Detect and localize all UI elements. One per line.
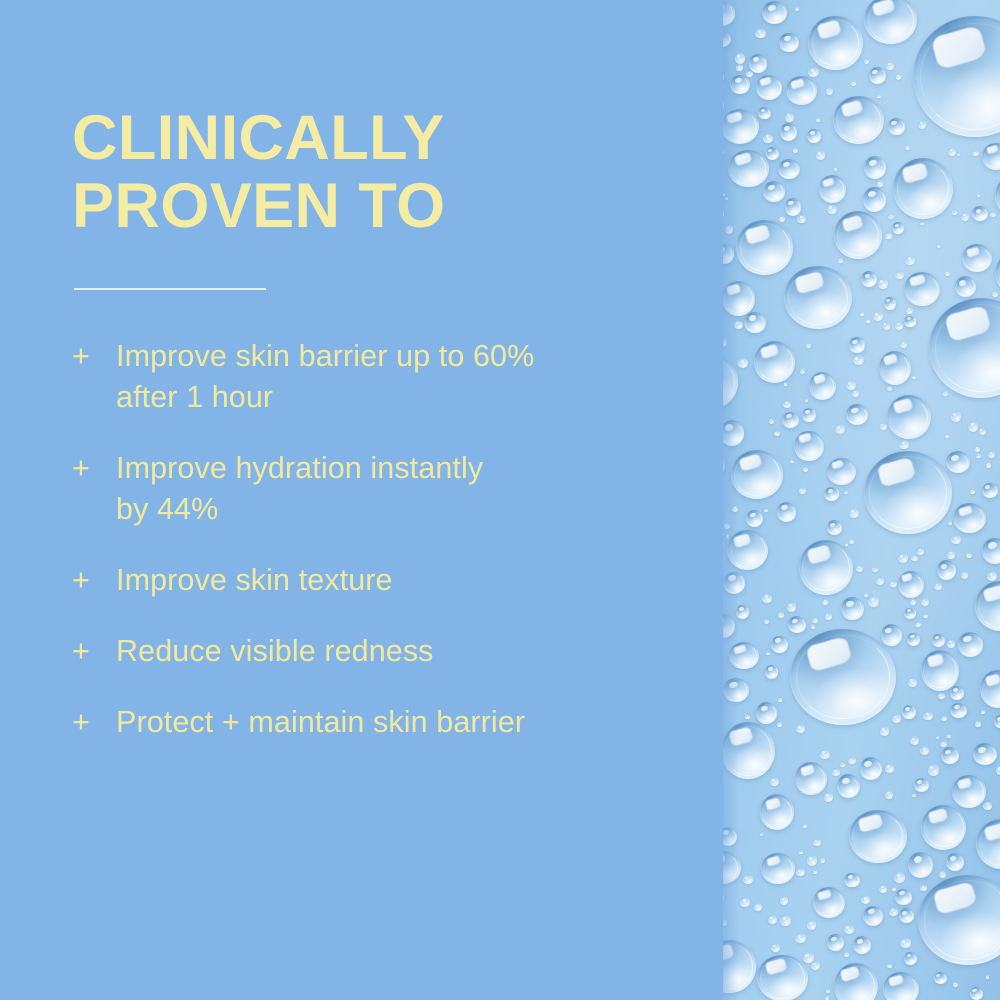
water-droplet xyxy=(825,996,829,1000)
water-droplet xyxy=(795,7,799,11)
water-droplet xyxy=(972,206,988,220)
water-droplet xyxy=(756,75,782,100)
water-droplet xyxy=(800,369,805,374)
water-droplet xyxy=(921,650,959,690)
water-droplet xyxy=(723,150,724,154)
water-droplet xyxy=(807,855,818,865)
water-droplet xyxy=(754,341,795,382)
water-droplet xyxy=(940,741,947,747)
water-droplet xyxy=(983,802,992,810)
water-droplet xyxy=(848,757,855,764)
water-droplet xyxy=(937,244,941,248)
water-droplet xyxy=(826,989,830,993)
water-droplet xyxy=(951,411,961,422)
water-droplet xyxy=(793,148,798,153)
list-item: + Improve skin texture xyxy=(72,560,692,601)
water-droplet xyxy=(765,665,779,678)
water-droplet xyxy=(890,581,897,587)
water-droplet xyxy=(982,143,1000,170)
water-droplet xyxy=(941,716,946,721)
water-droplet xyxy=(799,487,806,494)
water-droplet xyxy=(866,319,871,324)
water-droplet xyxy=(856,565,863,572)
water-droplet xyxy=(844,873,859,888)
water-droplet xyxy=(778,159,800,179)
water-droplet xyxy=(907,633,920,646)
water-droplet xyxy=(952,775,986,808)
plus-icon: + xyxy=(72,448,96,489)
water-droplet xyxy=(876,577,885,585)
water-droplet xyxy=(732,506,738,512)
water-droplet xyxy=(878,278,889,288)
water-droplet xyxy=(910,599,916,605)
water-droplet xyxy=(723,572,745,594)
text-panel: CLINICALLY PROVEN TO + Improve skin barr… xyxy=(0,0,723,1000)
water-droplet xyxy=(844,491,847,494)
water-droplet xyxy=(808,67,819,77)
water-droplet xyxy=(760,833,763,837)
water-droplet xyxy=(986,462,991,468)
water-droplet xyxy=(899,440,908,449)
water-droplet xyxy=(736,605,749,619)
water-droplet xyxy=(807,129,821,143)
water-droplet xyxy=(757,955,807,1000)
water-droplet xyxy=(758,107,771,119)
water-droplet xyxy=(990,212,996,218)
water-droplet xyxy=(806,343,811,348)
water-droplet xyxy=(786,76,817,105)
water-droplet xyxy=(784,266,852,329)
water-droplet xyxy=(904,608,916,619)
water-droplet xyxy=(905,256,915,266)
water-droplet xyxy=(905,145,910,150)
water-droplet xyxy=(723,100,724,109)
water-droplet xyxy=(920,222,923,225)
water-droplet xyxy=(790,629,896,725)
water-droplet xyxy=(898,571,924,598)
water-droplet xyxy=(813,839,821,846)
water-droplet xyxy=(754,903,762,910)
water-droplet xyxy=(868,596,879,608)
water-droplet xyxy=(780,896,788,904)
water-droplet xyxy=(970,987,983,999)
list-item: + Improve skin barrier up to 60% after 1… xyxy=(72,336,692,418)
water-droplet xyxy=(950,703,967,719)
water-droplet xyxy=(826,87,833,95)
list-item-label: Improve skin barrier up to 60% after 1 h… xyxy=(116,336,692,418)
water-droplet xyxy=(982,538,1000,563)
water-droplet xyxy=(883,322,891,330)
water-droplet xyxy=(809,372,836,400)
water-droplet xyxy=(768,915,777,924)
water-droplet xyxy=(995,176,1000,215)
water-droplet xyxy=(957,153,961,157)
water-droplet xyxy=(723,31,731,47)
water-droplet xyxy=(778,698,782,702)
water-droplet xyxy=(864,59,869,64)
benefit-list: + Improve skin barrier up to 60% after 1… xyxy=(72,336,692,743)
water-droplet xyxy=(915,622,921,628)
water-droplet xyxy=(849,539,854,544)
water-droplet xyxy=(941,747,959,764)
list-item-label: Improve hydration instantly by 44% xyxy=(116,448,692,530)
water-droplet xyxy=(816,118,820,122)
water-droplet xyxy=(785,198,802,215)
water-droplet xyxy=(973,743,997,765)
water-droplet xyxy=(904,272,940,307)
water-droplet xyxy=(749,54,767,72)
water-droplet xyxy=(834,963,878,1000)
water-droplet xyxy=(968,421,978,432)
water-droplet xyxy=(766,147,779,160)
water-droplet xyxy=(769,419,774,424)
water-droplet xyxy=(914,778,929,792)
water-droplet xyxy=(787,602,797,612)
water-droplet xyxy=(988,451,995,458)
water-droplet xyxy=(912,794,916,798)
water-droplet xyxy=(861,271,877,287)
water-droplet xyxy=(822,599,828,605)
water-droplet xyxy=(986,975,990,978)
water-droplet xyxy=(886,62,895,71)
water-droplet xyxy=(877,180,884,187)
water-droplet xyxy=(777,502,796,522)
page-title-line-2: PROVEN TO xyxy=(72,172,672,240)
water-droplet xyxy=(981,710,985,714)
water-droplet xyxy=(906,307,913,313)
water-droplet xyxy=(846,380,856,390)
water-droplet xyxy=(976,819,1000,869)
water-droplet xyxy=(945,434,949,438)
water-droplet xyxy=(834,167,837,170)
water-droplet xyxy=(827,934,843,951)
water-droplet xyxy=(883,972,919,1000)
water-droplet xyxy=(838,258,843,263)
water-droplet xyxy=(723,281,755,315)
water-droplet xyxy=(987,571,997,581)
water-droplet xyxy=(920,746,929,754)
water-droplet xyxy=(861,895,870,904)
water-droplet xyxy=(885,232,892,238)
list-item: + Reduce visible redness xyxy=(72,631,692,672)
water-droplet xyxy=(725,197,728,200)
water-droplet xyxy=(873,311,884,321)
water-droplet xyxy=(947,640,955,648)
water-droplet xyxy=(895,889,913,905)
water-droplet xyxy=(837,774,860,798)
water-droplet xyxy=(780,915,791,926)
water-droplet xyxy=(864,156,886,179)
water-droplet xyxy=(755,29,765,39)
water-droplet xyxy=(723,919,727,926)
water-droplet xyxy=(813,887,845,918)
water-droplet xyxy=(825,613,832,620)
water-droplet xyxy=(888,214,893,219)
water-droplet xyxy=(736,64,743,70)
water-droplet xyxy=(725,225,734,234)
water-droplet xyxy=(841,597,863,620)
water-droplet xyxy=(723,71,724,83)
water-droplet xyxy=(853,936,871,954)
water-droplet xyxy=(863,906,883,925)
water-droplet xyxy=(932,634,945,647)
list-item-label: Reduce visible redness xyxy=(116,631,692,672)
water-droplet xyxy=(820,858,825,863)
water-droplet xyxy=(811,624,816,629)
water-droplet xyxy=(953,982,958,987)
plus-icon: + xyxy=(72,560,96,601)
water-droplet xyxy=(928,764,939,775)
water-droplet xyxy=(728,150,769,187)
water-droplet xyxy=(917,548,924,555)
water-droplet xyxy=(920,885,927,891)
water-droplet xyxy=(962,244,992,272)
list-item: + Protect + maintain skin barrier xyxy=(72,702,692,743)
water-droplet xyxy=(872,567,878,572)
water-droplet xyxy=(864,451,952,534)
page-title: CLINICALLY PROVEN TO xyxy=(72,104,672,240)
water-droplet xyxy=(799,851,802,854)
water-droplet xyxy=(887,395,931,439)
water-droplet xyxy=(756,702,777,723)
water-droplet xyxy=(820,750,830,760)
water-droplet xyxy=(827,458,855,485)
water-droplet xyxy=(723,452,725,479)
water-droplet xyxy=(723,614,735,638)
water-droplet xyxy=(734,321,743,329)
water-droplet xyxy=(844,952,849,957)
water-droplet xyxy=(902,705,917,720)
water-droplet xyxy=(723,420,744,446)
water-droplet xyxy=(895,322,903,330)
water-droplet xyxy=(813,870,817,874)
water-droplet xyxy=(779,33,798,53)
water-droplet xyxy=(982,483,998,498)
water-droplet xyxy=(880,423,888,430)
water-droplet xyxy=(788,616,806,633)
water-droplet xyxy=(975,446,980,452)
water-droplet xyxy=(762,594,772,603)
water-droplet xyxy=(885,764,895,773)
water-droplet xyxy=(976,454,981,459)
water-droplet xyxy=(904,952,916,965)
water-droplet xyxy=(951,535,960,544)
divider xyxy=(74,288,266,290)
water-droplet xyxy=(824,792,833,802)
water-droplet xyxy=(913,16,1000,137)
water-droplet xyxy=(808,16,862,70)
water-droplet xyxy=(851,81,857,86)
water-droplet xyxy=(945,271,950,276)
water-droplet xyxy=(975,721,981,727)
water-droplet xyxy=(934,583,942,590)
water-droplet xyxy=(784,382,788,385)
water-droplet xyxy=(723,851,741,884)
water-droplet xyxy=(937,560,956,580)
water-droplet xyxy=(910,736,919,745)
water-droplet xyxy=(844,925,854,934)
water-droplet xyxy=(840,763,845,767)
water-droplet xyxy=(863,187,887,212)
water-droplet xyxy=(938,693,945,700)
water-droplet xyxy=(746,510,763,527)
water-droplet xyxy=(738,358,748,367)
water-droplet xyxy=(923,614,927,618)
water-droplet xyxy=(955,276,977,297)
page-title-line-1: CLINICALLY xyxy=(72,104,672,172)
water-droplet xyxy=(904,316,916,328)
water-droplet xyxy=(884,297,896,309)
water-droplet xyxy=(950,686,964,700)
water-droplet xyxy=(723,827,737,846)
water-droplet xyxy=(921,598,928,606)
water-droplet xyxy=(777,722,782,727)
water-droplet xyxy=(864,593,868,597)
water-droplet xyxy=(860,312,864,316)
water-droplet xyxy=(892,887,896,891)
water-droplet xyxy=(994,715,1000,729)
water-droplet xyxy=(744,312,765,333)
water-droplet xyxy=(846,404,868,425)
water-droplet xyxy=(961,571,968,579)
water-droplet xyxy=(726,534,730,538)
water-droplet xyxy=(995,251,1000,295)
water-droplet xyxy=(958,632,984,657)
water-droplet xyxy=(885,791,893,799)
water-droplet xyxy=(763,181,785,201)
water-droplet xyxy=(934,972,947,984)
water-droplet xyxy=(948,521,952,525)
water-droplet xyxy=(881,624,903,645)
water-droplet xyxy=(723,244,734,264)
water-droplet xyxy=(961,213,969,221)
water-droplet xyxy=(797,215,806,224)
water-droplet xyxy=(849,337,866,352)
water-droplet xyxy=(898,553,908,563)
water-droplet xyxy=(730,75,749,94)
water-droplet xyxy=(736,220,793,275)
droplet-texture xyxy=(723,0,1000,1000)
water-droplet xyxy=(908,852,933,878)
water-droplet xyxy=(824,487,839,501)
water-droplet xyxy=(929,298,1000,398)
water-droplet xyxy=(849,810,907,863)
water-droplet xyxy=(918,121,926,129)
water-droplet xyxy=(766,652,770,655)
water-droplet xyxy=(947,551,955,559)
water-droplet xyxy=(893,158,953,219)
water-droplet xyxy=(763,134,773,143)
water-droplet xyxy=(975,581,1000,631)
water-droplet xyxy=(811,961,820,969)
water-droplet xyxy=(888,118,906,134)
water-droplet xyxy=(745,715,749,719)
water-droplet xyxy=(849,508,859,518)
water-droplet xyxy=(723,338,727,347)
water-droplet xyxy=(780,123,797,141)
water-droplet xyxy=(795,762,827,795)
water-droplet xyxy=(803,467,808,471)
water-droplet xyxy=(911,555,918,561)
water-droplet xyxy=(923,712,932,721)
water-droplet xyxy=(908,678,917,687)
water-droplet xyxy=(887,964,892,968)
water-droplet xyxy=(743,875,753,884)
water-droplet xyxy=(948,148,956,156)
water-droplet xyxy=(953,503,986,533)
water-droplet xyxy=(723,722,775,779)
water-droplet xyxy=(764,619,769,624)
water-droplet xyxy=(778,612,784,618)
water-droplet xyxy=(771,636,788,654)
water-droplet xyxy=(779,216,785,222)
water-droplet xyxy=(770,777,779,786)
water-droplet xyxy=(894,872,905,883)
water-droplet xyxy=(723,940,756,993)
water-droplet xyxy=(790,460,794,464)
water-droplet xyxy=(796,724,806,733)
water-droplet xyxy=(835,424,845,434)
water-droplet xyxy=(900,938,911,948)
water-droplet xyxy=(936,736,939,739)
water-droplet xyxy=(992,291,999,297)
water-droplet xyxy=(895,271,904,279)
water-droplet xyxy=(723,209,724,219)
water-droplet xyxy=(816,150,826,159)
water-droplet xyxy=(746,71,753,77)
water-droplet xyxy=(946,451,970,473)
water-droplet xyxy=(877,95,880,99)
water-droplet xyxy=(805,399,809,403)
water-droplet xyxy=(760,794,794,830)
water-droplet xyxy=(972,150,978,156)
water-droplet xyxy=(879,885,888,893)
water-droplet xyxy=(803,824,807,827)
water-droplet xyxy=(723,109,759,144)
water-droplet xyxy=(723,890,724,904)
water-droplet xyxy=(939,871,946,878)
water-droplet xyxy=(762,1,787,24)
water-droplet xyxy=(802,408,815,422)
water-droplet xyxy=(782,412,799,428)
water-droplet xyxy=(774,431,780,437)
water-droplet xyxy=(966,553,972,558)
water-droplet xyxy=(783,401,791,408)
water-droplet xyxy=(827,520,843,534)
water-droplet xyxy=(723,678,749,703)
water-droplet xyxy=(899,908,914,922)
water-droplet xyxy=(864,0,917,44)
water-droplet xyxy=(785,113,794,122)
water-droplet xyxy=(771,944,780,952)
water-droplet xyxy=(947,734,951,738)
water-droplet xyxy=(892,714,902,723)
water-droplet xyxy=(832,769,840,777)
water-droplet xyxy=(869,67,886,84)
water-droplet xyxy=(799,540,853,594)
water-droplet xyxy=(887,386,892,391)
water-droplet xyxy=(921,805,966,850)
water-droplet xyxy=(900,341,908,348)
water-droplet xyxy=(860,757,882,780)
water-droplet xyxy=(943,391,947,396)
water-droplet xyxy=(979,428,986,435)
water-droplet xyxy=(946,853,964,871)
water-droplet xyxy=(723,355,738,409)
water-droplet xyxy=(996,765,1000,775)
water-droplet xyxy=(795,933,806,943)
water-droplet xyxy=(819,175,846,202)
